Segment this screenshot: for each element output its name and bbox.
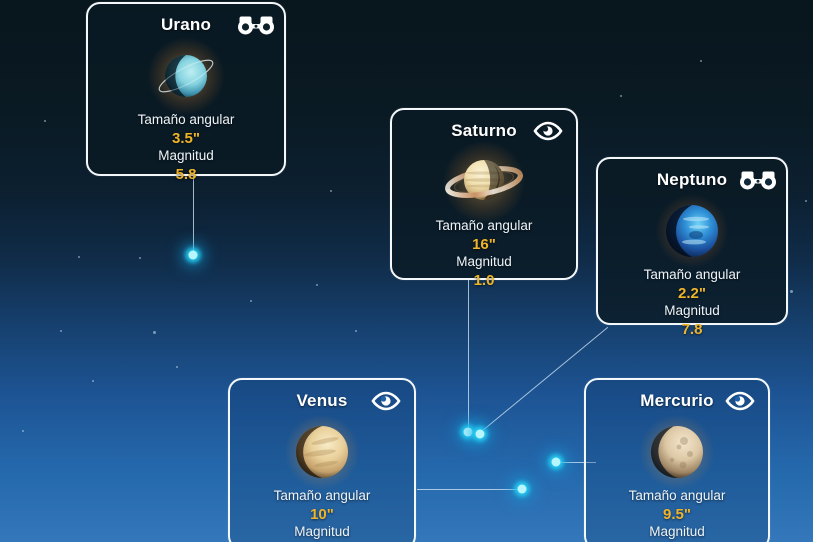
magnitude-value: 7.8 xyxy=(598,320,786,340)
angular-size-value: 2.2" xyxy=(598,284,786,304)
magnitude-value: 5.8 xyxy=(88,165,284,185)
background-star xyxy=(139,257,141,259)
planet-name-mercurio: Mercurio xyxy=(640,391,713,411)
card-header-urano: Urano xyxy=(98,10,274,40)
planet-name-neptuno: Neptuno xyxy=(657,170,727,190)
magnitude-label: Magnitud xyxy=(392,254,576,271)
card-stats-venus: Tamaño angular 10" Magnitud -3.9 xyxy=(230,488,414,542)
eye-icon[interactable] xyxy=(528,118,568,144)
magnitude-label: Magnitud xyxy=(88,148,284,165)
angular-size-label: Tamaño angular xyxy=(230,488,414,505)
background-star xyxy=(92,380,94,382)
card-header-neptuno: Neptuno xyxy=(608,165,776,195)
eye-icon[interactable] xyxy=(720,388,760,414)
background-star xyxy=(22,430,24,432)
leader-line-saturno xyxy=(468,280,469,432)
background-star xyxy=(330,190,332,192)
background-star xyxy=(44,120,46,122)
background-star xyxy=(78,256,80,258)
sky-marker-mercurio[interactable] xyxy=(552,458,561,467)
sky-marker-saturno[interactable] xyxy=(464,428,473,437)
magnitude-label: Magnitud xyxy=(230,524,414,541)
sky-chart-canvas: Urano xyxy=(0,0,813,542)
sky-marker-urano[interactable] xyxy=(189,251,198,260)
card-stats-mercurio: Tamaño angular 9.5" Magnitud 1.6 xyxy=(586,488,768,542)
planet-card-venus[interactable]: Venus xyxy=(228,378,416,542)
angular-size-label: Tamaño angular xyxy=(586,488,768,505)
planet-graphic-venus xyxy=(230,418,414,486)
magnitude-value: 1.0 xyxy=(392,271,576,291)
card-stats-neptuno: Tamaño angular 2.2" Magnitud 7.8 xyxy=(598,267,786,340)
background-star xyxy=(620,95,622,97)
planet-name-urano: Urano xyxy=(161,15,211,35)
magnitude-label: Magnitud xyxy=(586,524,768,541)
sky-marker-neptuno[interactable] xyxy=(476,430,485,439)
planet-graphic-neptuno xyxy=(598,197,786,265)
background-star xyxy=(153,331,156,334)
planet-graphic-urano xyxy=(88,42,284,110)
background-star xyxy=(790,290,793,293)
planet-card-urano[interactable]: Urano xyxy=(86,2,286,176)
background-star xyxy=(355,330,357,332)
magnitude-label: Magnitud xyxy=(598,303,786,320)
eye-icon[interactable] xyxy=(366,388,406,414)
angular-size-value: 9.5" xyxy=(586,505,768,525)
background-star xyxy=(316,284,318,286)
card-header-venus: Venus xyxy=(240,386,404,416)
leader-line-urano xyxy=(193,176,194,255)
background-star xyxy=(700,60,702,62)
binoculars-icon[interactable] xyxy=(738,167,778,193)
planet-card-saturno[interactable]: Saturno xyxy=(390,108,578,280)
leader-line-venus xyxy=(417,489,522,490)
planet-graphic-mercurio xyxy=(586,418,768,486)
binoculars-icon[interactable] xyxy=(236,12,276,38)
planet-card-mercurio[interactable]: Mercurio xyxy=(584,378,770,542)
angular-size-value: 16" xyxy=(392,235,576,255)
planet-name-venus: Venus xyxy=(296,391,347,411)
planet-name-saturno: Saturno xyxy=(451,121,517,141)
background-star xyxy=(176,366,178,368)
planet-graphic-saturno xyxy=(392,148,576,216)
card-stats-urano: Tamaño angular 3.5" Magnitud 5.8 xyxy=(88,112,284,185)
planet-card-neptuno[interactable]: Neptuno xyxy=(596,157,788,325)
background-star xyxy=(60,330,62,332)
card-stats-saturno: Tamaño angular 16" Magnitud 1.0 xyxy=(392,218,576,291)
card-header-mercurio: Mercurio xyxy=(596,386,758,416)
sky-marker-venus[interactable] xyxy=(518,485,527,494)
background-star xyxy=(250,300,252,302)
angular-size-value: 10" xyxy=(230,505,414,525)
angular-size-value: 3.5" xyxy=(88,129,284,149)
background-star xyxy=(805,200,807,202)
angular-size-label: Tamaño angular xyxy=(598,267,786,284)
